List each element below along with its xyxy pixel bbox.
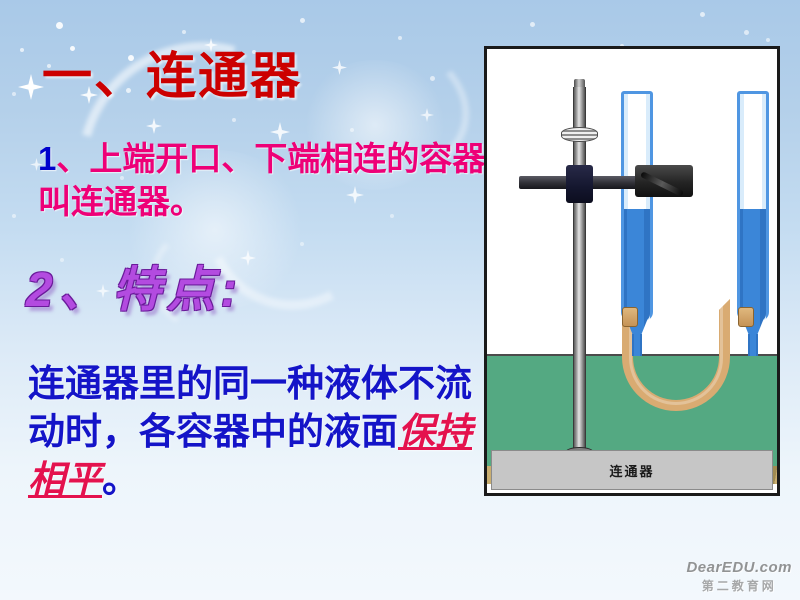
statement-text: 连通器里的同一种液体不流动时，各容器中的液面保持相平。 — [28, 360, 498, 504]
figure-caption: 连通器 — [491, 450, 773, 490]
definition-text: 1、上端开口、下端相连的容器叫连通器。 — [38, 138, 508, 224]
watermark-site: DearEDU.com — [686, 559, 792, 576]
right-tube-neck — [748, 334, 758, 356]
left-hose-cuff — [622, 307, 638, 327]
statement-part2: 。 — [102, 459, 139, 500]
slide-canvas: 一、连通器 1、上端开口、下端相连的容器叫连通器。 2、特点: 连通器里的同一种… — [0, 0, 800, 600]
left-tube-neck — [632, 334, 642, 356]
page-title: 一、连通器 — [42, 36, 302, 108]
sparkle-icon — [18, 74, 44, 100]
left-tube-liquid — [624, 209, 650, 321]
star-icon — [398, 36, 402, 40]
stand-collar — [561, 127, 598, 142]
star-icon — [300, 242, 304, 246]
right-tube-liquid — [740, 209, 766, 321]
star-icon — [12, 214, 16, 218]
feature-heading: 2、特点: — [26, 250, 243, 320]
watermark: DearEDU.com 第二教育网 — [686, 559, 792, 594]
star-icon — [182, 30, 186, 34]
star-icon — [300, 18, 305, 23]
star-icon — [232, 118, 236, 122]
right-hose-cuff — [738, 307, 754, 327]
star-icon — [350, 128, 354, 132]
star-icon — [766, 38, 770, 42]
star-icon — [530, 22, 535, 27]
stand-rod — [573, 87, 586, 461]
star-icon — [12, 92, 16, 96]
apparatus-figure: 连通器 — [484, 46, 780, 496]
star-icon — [430, 76, 435, 81]
definition-body: 、上端开口、下端相连的容器叫连通器。 — [38, 140, 485, 220]
star-icon — [20, 48, 24, 52]
star-icon — [700, 12, 705, 17]
star-icon — [56, 22, 63, 29]
watermark-subtitle: 第二教育网 — [686, 577, 792, 594]
definition-number: 1 — [38, 140, 56, 177]
stand-clamp-block — [566, 165, 593, 203]
star-icon — [744, 30, 749, 35]
